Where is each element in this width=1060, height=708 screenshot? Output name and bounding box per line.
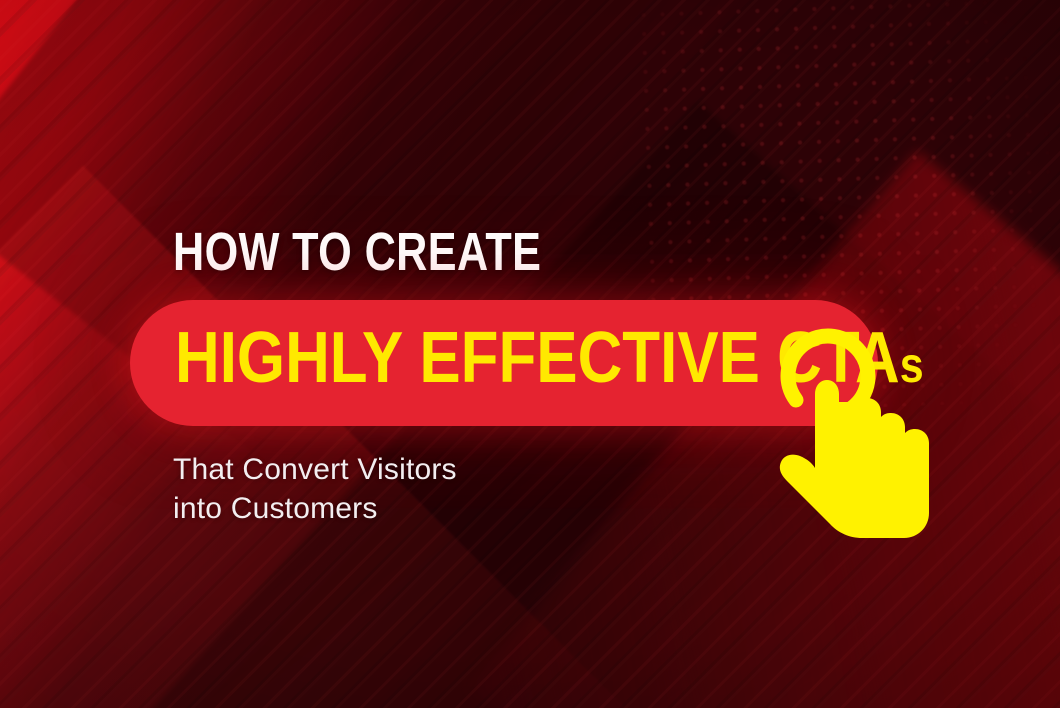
cta-button-label: HIGHLY EFFECTIVE CTAs xyxy=(175,321,924,402)
subtitle-text: That Convert Visitors into Customers xyxy=(173,450,457,528)
banner-content: HOW TO CREATE HIGHLY EFFECTIVE CTAs That… xyxy=(0,0,1060,708)
promo-banner: HOW TO CREATE HIGHLY EFFECTIVE CTAs That… xyxy=(0,0,1060,708)
cta-button[interactable]: HIGHLY EFFECTIVE CTAs xyxy=(130,300,878,426)
eyebrow-heading: HOW TO CREATE xyxy=(173,222,541,282)
cta-label-main: HIGHLY EFFECTIVE CTA xyxy=(175,318,900,398)
cta-label-suffix: s xyxy=(900,337,924,393)
